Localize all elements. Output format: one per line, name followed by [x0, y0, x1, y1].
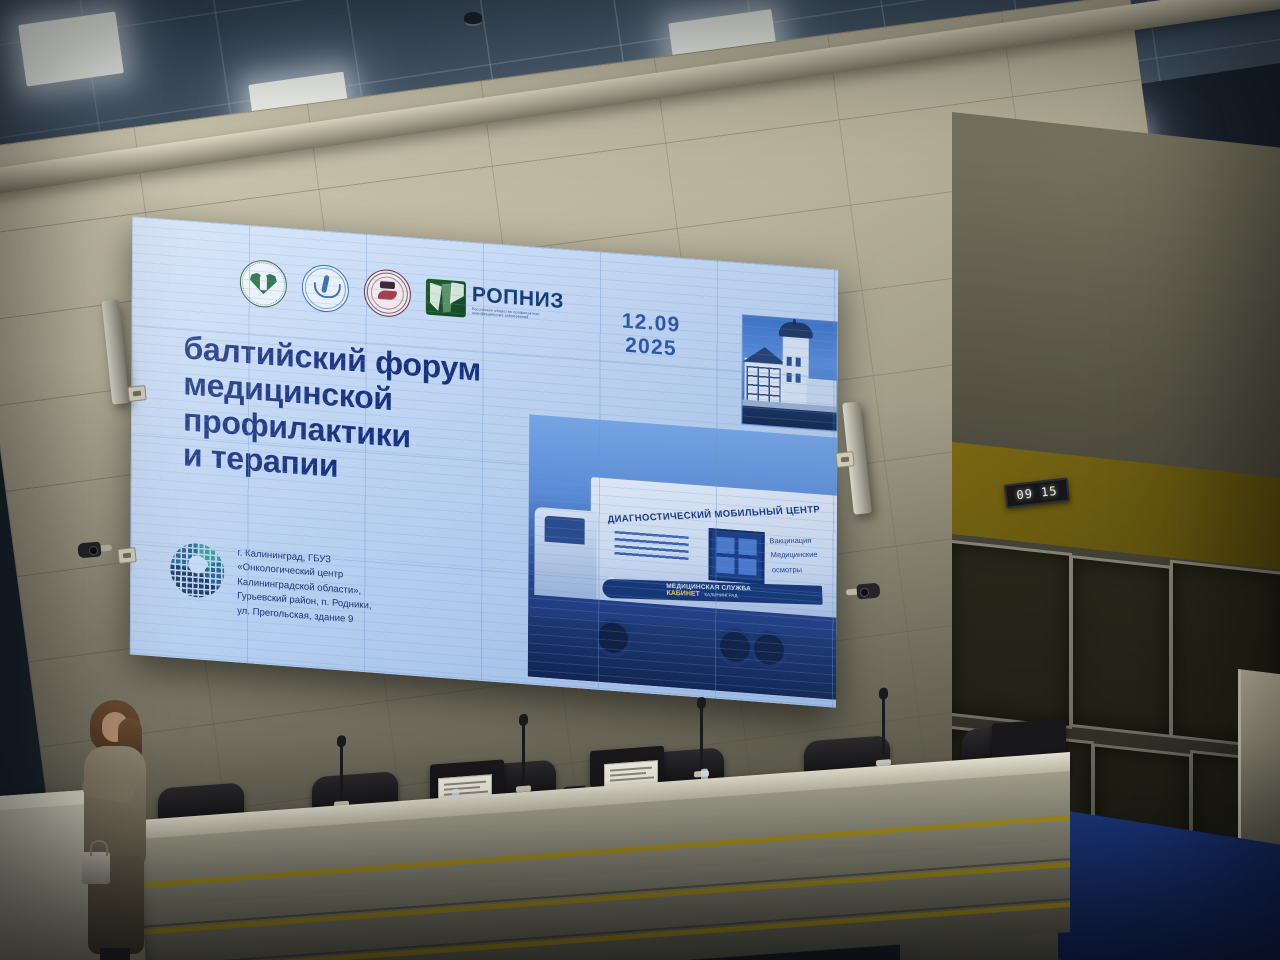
slide-date-year: 2025 [622, 333, 681, 362]
truck-services: Вакцинация Медицинские осмотры [769, 533, 838, 577]
person-legs [100, 948, 130, 960]
logo-ropniz: РОПНИЗ Российское общество профилактики … [426, 278, 572, 325]
smoke-detector-icon [464, 12, 482, 24]
slide-logo-row: РОПНИЗ Российское общество профилактики … [240, 259, 572, 331]
slide-address: г. Калининград, ГБУЗ «Онкологический цен… [237, 546, 372, 628]
standing-person [66, 700, 162, 960]
slide-photo-fishing-village [741, 314, 838, 431]
logo-kaliningrad-region-icon [364, 268, 411, 319]
slide-footer: г. Калининград, ГБУЗ «Онкологический цен… [170, 541, 372, 628]
conference-hall-photo: РОПНИЗ Российское общество профилактики … [0, 0, 1280, 960]
person-handbag [82, 852, 110, 884]
logo-nmic-profilaktika-icon [240, 259, 287, 310]
truck-headline: ДИАГНОСТИЧЕСКИЙ МОБИЛЬНЫЙ ЦЕНТР [607, 504, 837, 526]
presentation-slide: РОПНИЗ Российское общество профилактики … [130, 216, 838, 707]
oncology-center-logo-icon [170, 541, 224, 599]
gooseneck-microphone[interactable] [700, 705, 703, 775]
truck-window-icon [708, 528, 764, 584]
clock-time: 09 15 [1016, 484, 1058, 503]
truck-stripe-tail: КАЛИНИНГРАД [704, 592, 737, 598]
ropniz-leaf-icon [426, 278, 466, 317]
gooseneck-microphone[interactable] [522, 722, 525, 788]
wall-power-outlet[interactable] [127, 385, 146, 402]
logo-minzdrav-icon [302, 263, 349, 314]
side-doorway[interactable] [1238, 669, 1280, 855]
ptz-camera-right [845, 583, 880, 603]
slide-title: балтийский форум медицинской профилактик… [183, 330, 604, 505]
truck-stripe-big: КАБИНЕТ [666, 590, 700, 598]
ptz-camera-left [77, 541, 112, 561]
slide-date: 12.09 2025 [622, 309, 681, 362]
gooseneck-microphone[interactable] [882, 696, 885, 762]
led-video-wall[interactable]: РОПНИЗ Российское общество профилактики … [130, 216, 838, 707]
wall-power-outlet[interactable] [117, 547, 136, 564]
wall-power-outlet[interactable] [835, 451, 854, 468]
gooseneck-microphone[interactable] [340, 743, 343, 803]
